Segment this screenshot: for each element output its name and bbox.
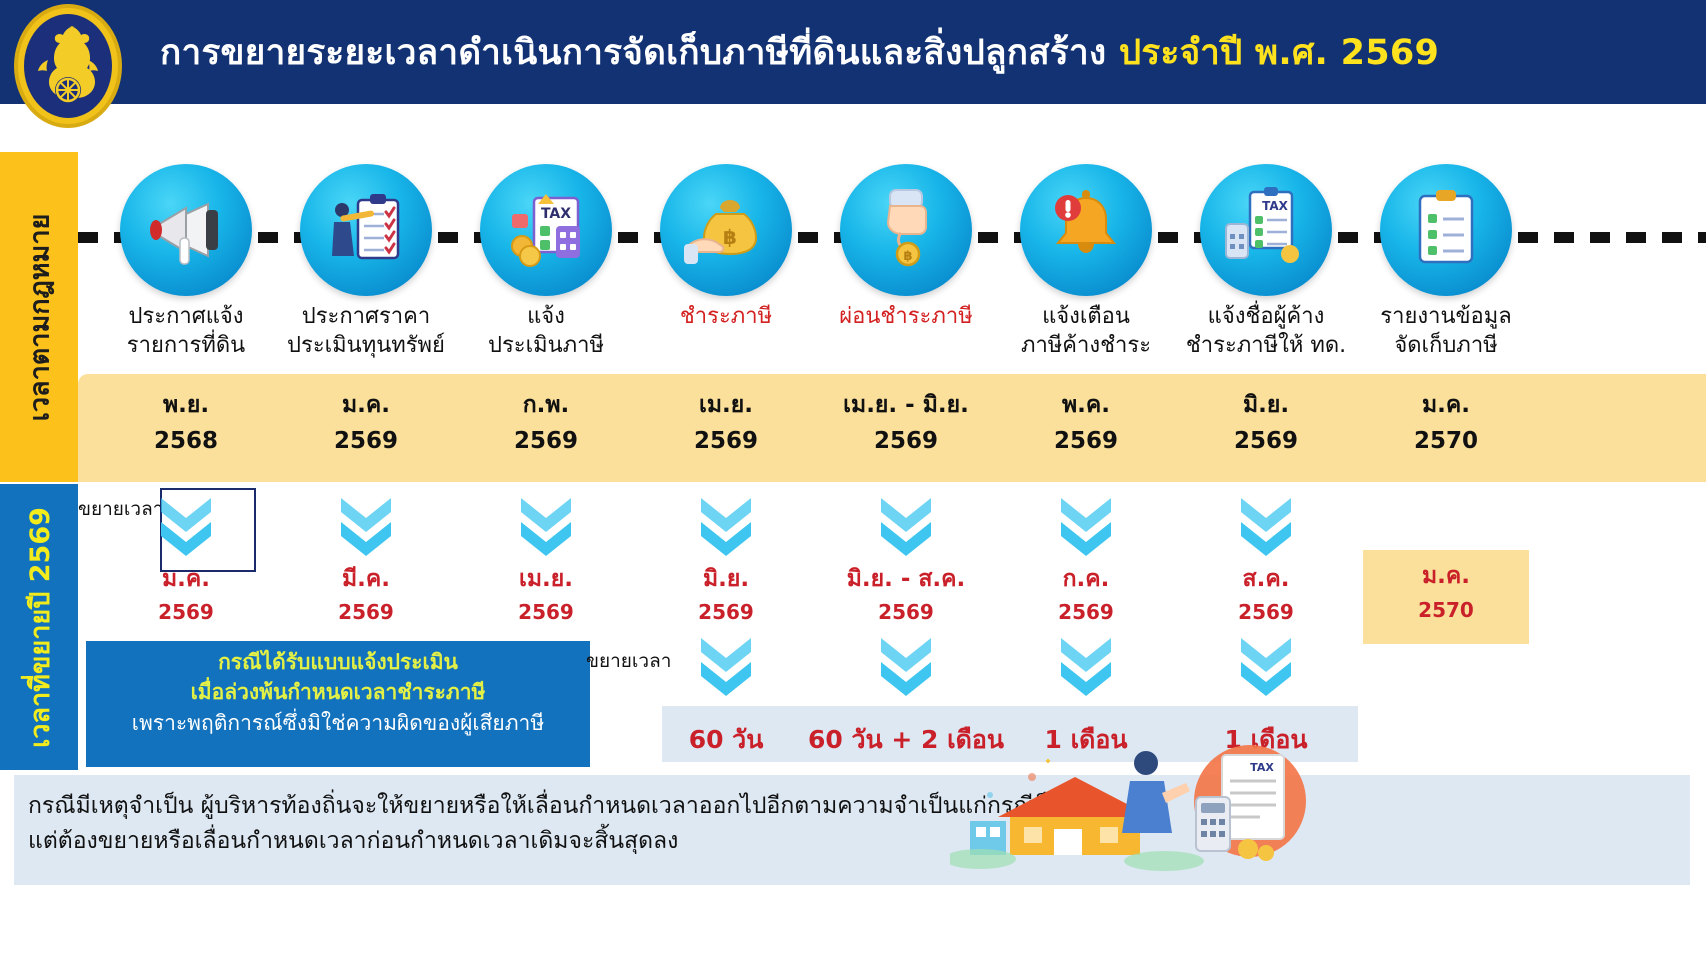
blue-note-box: กรณีได้รับแบบแจ้งประเมิน เมื่อล่วงพ้นกำห… — [86, 641, 590, 767]
legal-date-cell-1: พ.ย.2568 — [96, 388, 276, 459]
footer-note-line-2: แต่ต้องขยายหรือเลื่อนกำหนดเวลาก่อนกำหนดเ… — [28, 824, 1075, 859]
legal-date-cell-6: พ.ค.2569 — [996, 388, 1176, 459]
extend-tag-bottom: ขยายเวลา — [586, 646, 671, 676]
timeline-step-3[interactable]: TAX แจ้ง ประเมินภาษี — [456, 164, 636, 360]
checklist-icon — [1380, 164, 1512, 296]
timeline-step-7[interactable]: TAX แจ้งชื่อผู้ค้าง ชำระภาษีให้ ทด. — [1176, 164, 1356, 360]
chevron-down-icon-1 — [157, 496, 215, 562]
alert-bell-icon — [1020, 164, 1152, 296]
clipboard-person-icon — [300, 164, 432, 296]
extended-date-cell-1: ม.ค.2569 — [96, 562, 276, 627]
svg-text:TAX: TAX — [541, 206, 571, 222]
timeline-step-6[interactable]: แจ้งเตือน ภาษีค้างชำระ — [996, 164, 1176, 360]
chevron-down-icon-3 — [517, 496, 575, 562]
coin-hand-icon: ฿ — [840, 164, 972, 296]
timeline-step-7-label: แจ้งชื่อผู้ค้าง ชำระภาษีให้ ทด. — [1176, 303, 1356, 360]
page-header: การขยายระยะเวลาดำเนินการจัดเก็บภาษีที่ดิ… — [0, 0, 1706, 104]
svg-text:TAX: TAX — [1250, 761, 1274, 774]
chevron-down-icon-10 — [1057, 636, 1115, 702]
timeline-step-2[interactable]: ประกาศราคา ประเมินทุนทรัพย์ — [276, 164, 456, 360]
chevron-down-icon-6 — [1057, 496, 1115, 562]
chevron-down-icon-8 — [697, 636, 755, 702]
timeline-step-8[interactable]: รายงานข้อมูล จัดเก็บภาษี — [1356, 164, 1536, 360]
page-title-highlight: ประจำปี พ.ศ. 2569 — [1119, 33, 1439, 73]
svg-text:TAX: TAX — [1262, 199, 1289, 213]
timeline-steps: ประกาศแจ้ง รายการที่ดิน — [78, 164, 1706, 374]
megaphone-icon — [120, 164, 252, 296]
page-title-main: การขยายระยะเวลาดำเนินการจัดเก็บภาษีที่ดิ… — [160, 33, 1106, 73]
legal-date-band: พ.ย.2568 ม.ค.2569 ก.พ.2569 เม.ย.2569 เม.… — [78, 374, 1706, 482]
timeline-step-5-label: ผ่อนชำระภาษี — [816, 303, 996, 332]
extended-date-cell-6: ก.ค.2569 — [996, 562, 1176, 627]
sidebar-band-legal-time: เวลาตามกฎหมาย — [0, 152, 78, 482]
page-title: การขยายระยะเวลาดำเนินการจัดเก็บภาษีที่ดิ… — [160, 25, 1439, 80]
money-bag-hand-icon: ฿ — [660, 164, 792, 296]
timeline-step-2-label: ประกาศราคา ประเมินทุนทรัพย์ — [276, 303, 456, 360]
final-date-box: ม.ค. 2570 — [1363, 550, 1529, 644]
timeline-step-1[interactable]: ประกาศแจ้ง รายการที่ดิน — [96, 164, 276, 360]
sidebar-band-extended-time-label: เวลาที่ขยายปี 2569 — [18, 507, 61, 748]
extended-date-cell-4: มิ.ย.2569 — [636, 562, 816, 627]
legal-date-cell-5: เม.ย. - มิ.ย.2569 — [816, 388, 996, 459]
legal-date-cell-8: ม.ค.2570 — [1356, 388, 1536, 459]
extension-area: ขยายเวลา ม.ค.2569 มี.ค.2569 เม.ย.2569 มิ… — [78, 484, 1706, 770]
sidebar-band-extended-time: เวลาที่ขยายปี 2569 — [0, 484, 78, 770]
svg-text:฿: ฿ — [723, 225, 737, 249]
legal-date-cell-2: ม.ค.2569 — [276, 388, 456, 459]
extended-date-cell-7: ส.ค.2569 — [1176, 562, 1356, 627]
extend-tag-top: ขยายเวลา — [78, 494, 163, 524]
chevron-down-icon-2 — [337, 496, 395, 562]
tax-calculator-icon: TAX — [480, 164, 612, 296]
house-and-tax-illustration: TAX — [950, 737, 1330, 887]
chevron-down-icon-7 — [1237, 496, 1295, 562]
blue-note-line-1: กรณีได้รับแบบแจ้งประเมิน — [86, 647, 590, 677]
legal-date-cell-7: มิ.ย.2569 — [1176, 388, 1356, 459]
timeline-step-5[interactable]: ฿ ผ่อนชำระภาษี — [816, 164, 996, 332]
timeline-step-4-label: ชำระภาษี — [636, 303, 816, 332]
chevron-down-icon-5 — [877, 496, 935, 562]
extended-date-cell-2: มี.ค.2569 — [276, 562, 456, 627]
tax-document-icon: TAX — [1200, 164, 1332, 296]
extended-date-cell-3: เม.ย.2569 — [456, 562, 636, 627]
sidebar-band-legal-time-label: เวลาตามกฎหมาย — [18, 213, 61, 421]
extended-date-cell-5: มิ.ย. - ส.ค.2569 — [816, 562, 996, 627]
chevron-down-icon-9 — [877, 636, 935, 702]
chevron-down-icon-11 — [1237, 636, 1295, 702]
timeline-step-4[interactable]: ฿ ชำระภาษี — [636, 164, 816, 332]
timeline-step-1-label: ประกาศแจ้ง รายการที่ดิน — [96, 303, 276, 360]
timeline-step-8-label: รายงานข้อมูล จัดเก็บภาษี — [1356, 303, 1536, 360]
duration-cell-1: 60 วัน — [636, 720, 816, 760]
timeline-step-6-label: แจ้งเตือน ภาษีค้างชำระ — [996, 303, 1176, 360]
garuda-seal-emblem — [8, 4, 128, 128]
blue-note-line-2: เมื่อล่วงพ้นกำหนดเวลาชำระภาษี — [86, 677, 590, 707]
chevron-down-icon-4 — [697, 496, 755, 562]
blue-note-line-3: เพราะพฤติการณ์ซึ่งมิใช่ความผิดของผู้เสีย… — [86, 708, 590, 738]
timeline-step-3-label: แจ้ง ประเมินภาษี — [456, 303, 636, 360]
footer-note-text: กรณีมีเหตุจำเป็น ผู้บริหารท้องถิ่นจะให้ข… — [28, 789, 1075, 858]
legal-date-cell-4: เม.ย.2569 — [636, 388, 816, 459]
legal-date-cell-3: ก.พ.2569 — [456, 388, 636, 459]
svg-text:฿: ฿ — [903, 249, 912, 264]
footer-note-line-1: กรณีมีเหตุจำเป็น ผู้บริหารท้องถิ่นจะให้ข… — [28, 789, 1075, 824]
footer-note: กรณีมีเหตุจำเป็น ผู้บริหารท้องถิ่นจะให้ข… — [14, 775, 1690, 885]
